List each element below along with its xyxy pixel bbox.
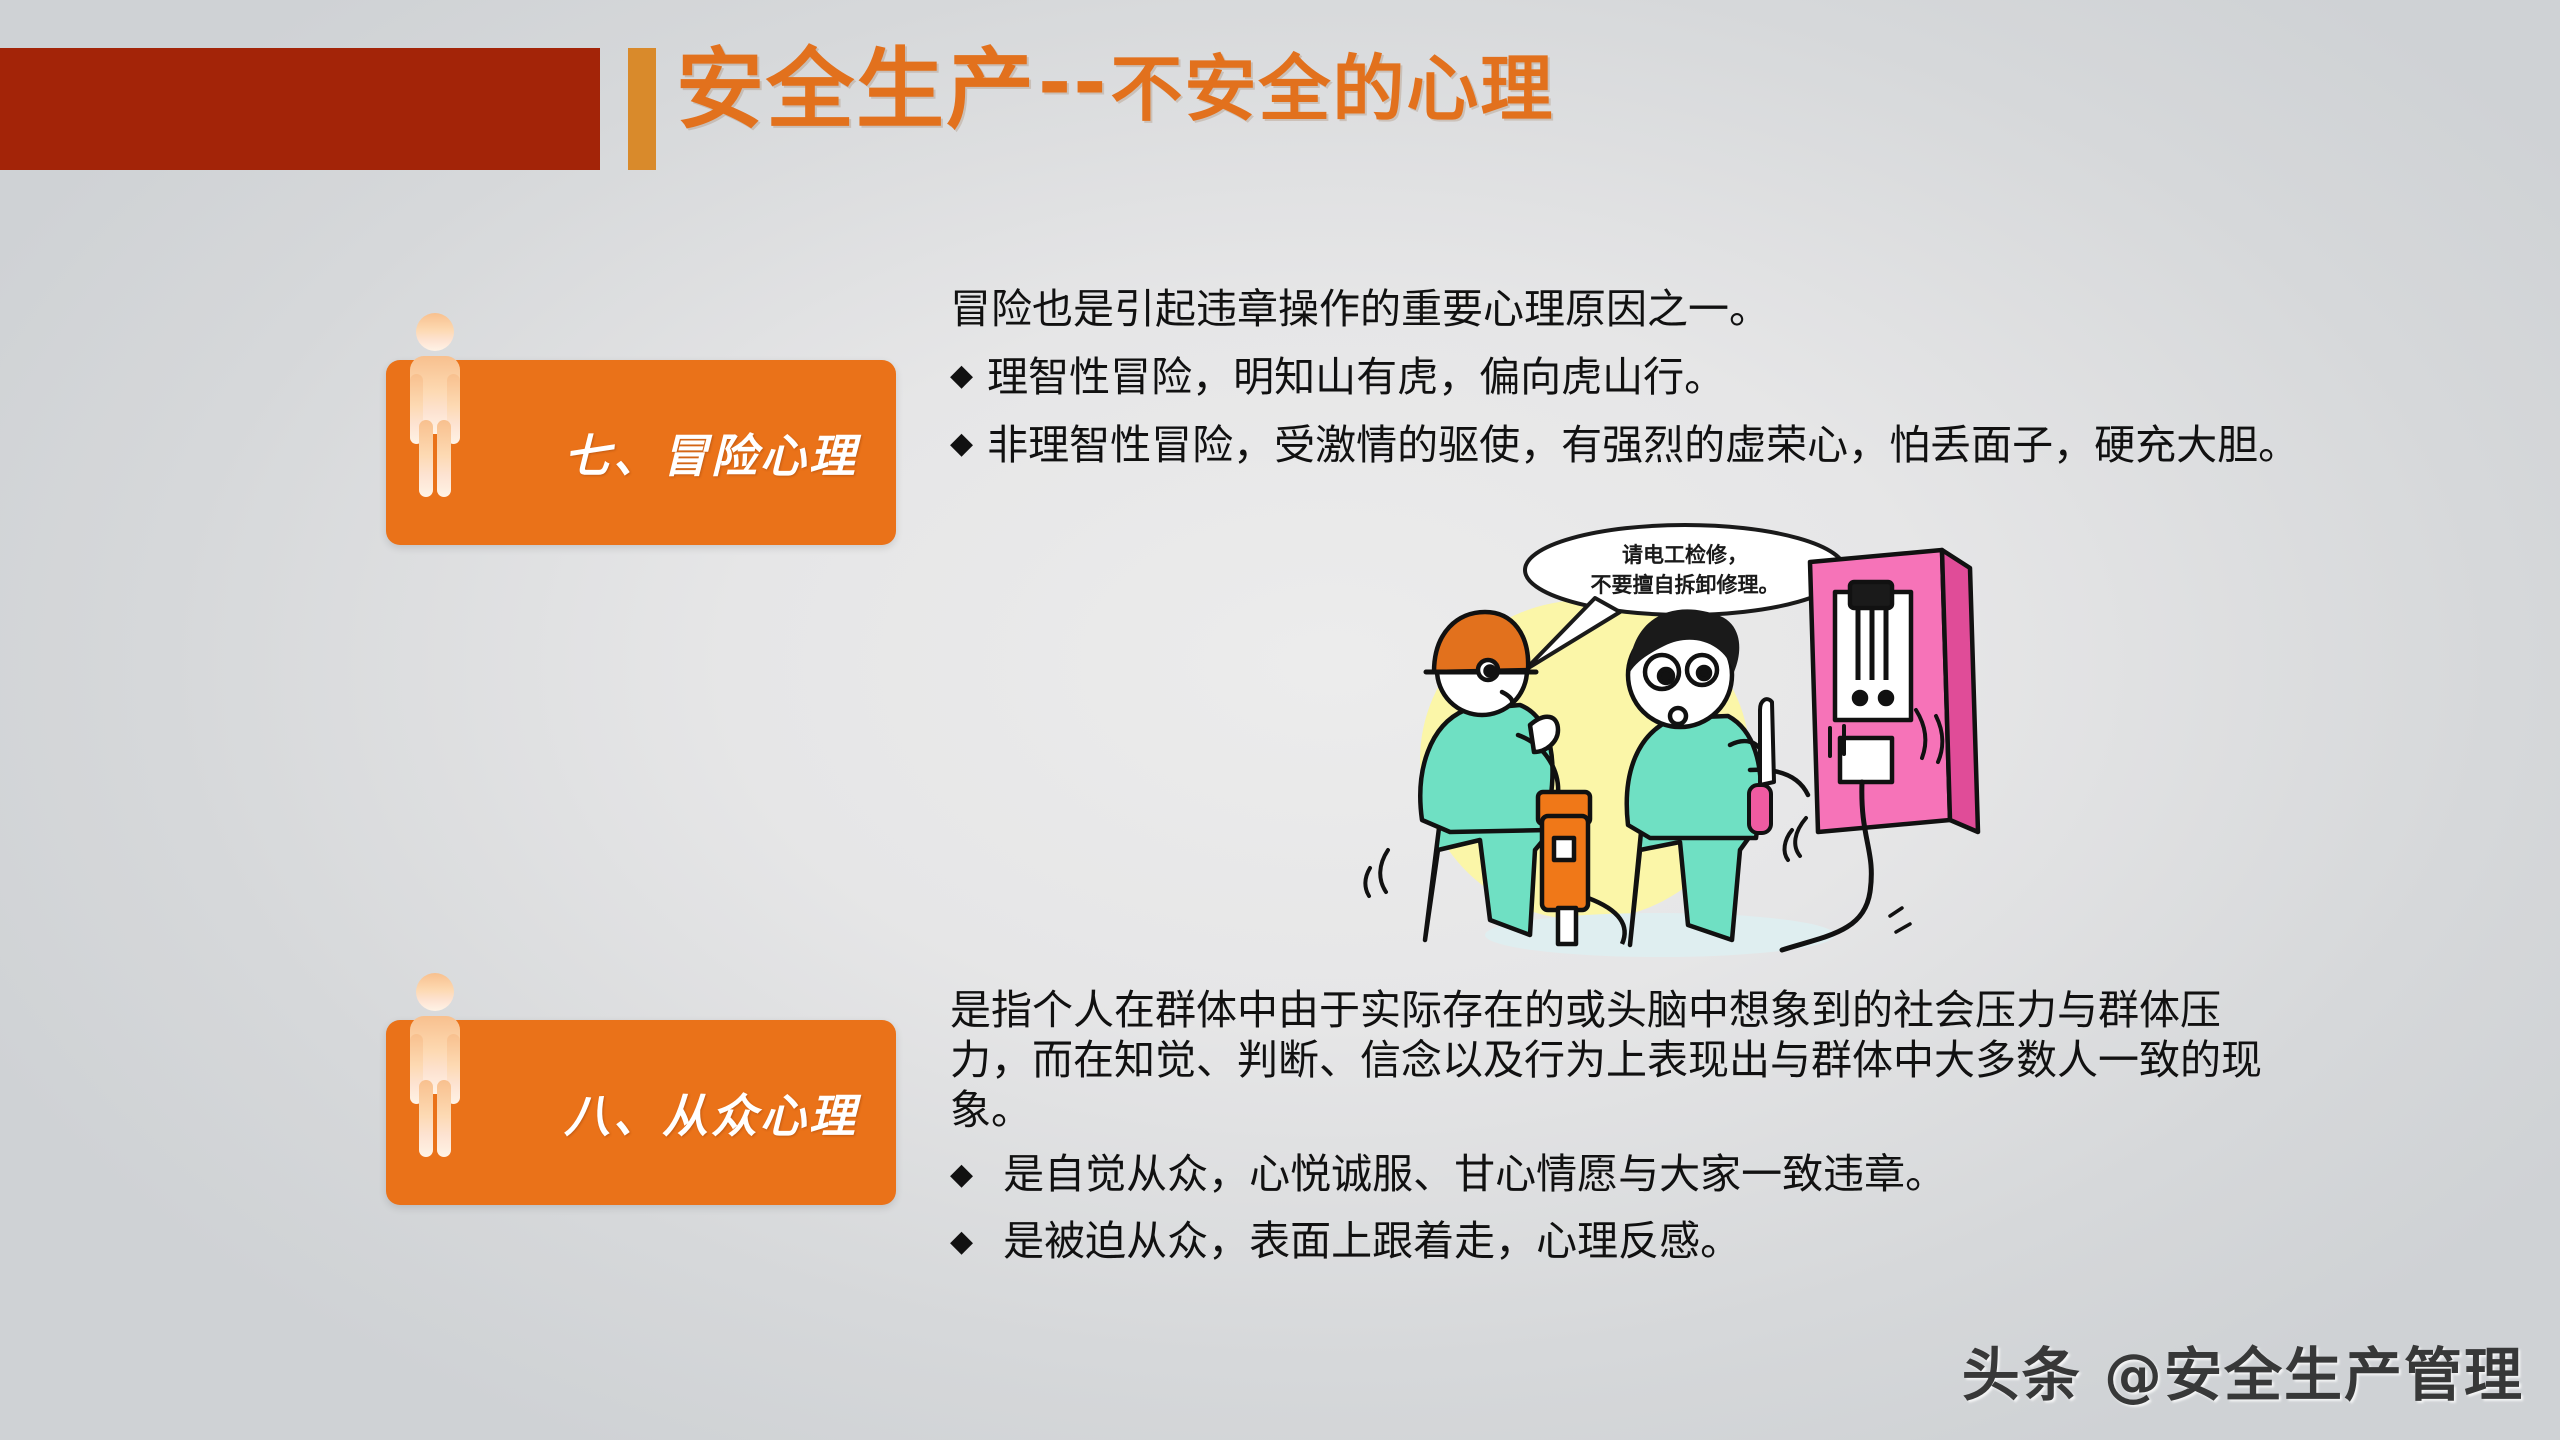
section-7-bullet-2-text: 非理智性冒险，受激情的驱使，有强烈的虚荣心，怕丢面子，硬充大胆。 [987, 418, 2310, 472]
diamond-bullet-icon: ◆ [950, 1216, 1003, 1269]
section-8-intro: 是指个人在群体中由于实际存在的或头脑中想象到的社会压力与群体压力，而在知觉、判断… [950, 985, 2300, 1135]
section-8-bullet-2-text: 是被迫从众，表面上跟着走，心理反感。 [1003, 1216, 2300, 1266]
diamond-bullet-icon: ◆ [950, 418, 987, 471]
section-8-bullet-1: ◆ 是自觉从众，心悦诚服、甘心情愿与大家一致违章。 [950, 1149, 2300, 1202]
speech-bubble-line2: 不要擅自拆卸修理。 [1591, 573, 1780, 597]
person-icon [404, 972, 466, 1157]
diamond-bullet-icon: ◆ [950, 1149, 1003, 1202]
header-accent-bar [0, 48, 600, 170]
diamond-bullet-icon: ◆ [950, 350, 987, 403]
page-title-dash: -- [1036, 36, 1110, 129]
slide-canvas: 安全生产--不安全的心理 七、冒险心理 冒险也是引起违章操作的重要心理原因之 [0, 0, 2560, 1440]
speech-bubble-line1: 请电工检修， [1622, 543, 1748, 567]
section-7-bullet-2: ◆ 非理智性冒险，受激情的驱使，有强烈的虚荣心，怕丢面子，硬充大胆。 [950, 418, 2310, 472]
electrical-safety-cartoon: 请电工检修， 不要擅自拆卸修理。 [1330, 520, 2030, 970]
watermark: 头条 @安全生产管理 [1962, 1328, 2524, 1412]
section-7-bullet-1-text: 理智性冒险，明知山有虎，偏向虎山行。 [987, 350, 2310, 404]
page-title: 安全生产--不安全的心理 [676, 24, 1554, 140]
page-title-sub: 不安全的心理 [1110, 30, 1554, 135]
section-8-body: 是指个人在群体中由于实际存在的或头脑中想象到的社会压力与群体压力，而在知觉、判断… [950, 985, 2300, 1268]
section-8-bullet-2: ◆ 是被迫从众，表面上跟着走，心理反感。 [950, 1216, 2300, 1269]
section-8-bullet-1-text: 是自觉从众，心悦诚服、甘心情愿与大家一致违章。 [1003, 1149, 2300, 1199]
header-accent-tick [628, 48, 656, 170]
page-title-main: 安全生产 [676, 19, 1036, 146]
section-7-intro: 冒险也是引起违章操作的重要心理原因之一。 [950, 282, 2310, 336]
section-badge-8-label: 八、从众心理 [564, 1080, 896, 1146]
section-badge-7-label: 七、冒险心理 [564, 420, 896, 486]
person-icon [404, 312, 466, 497]
section-7-bullet-1: ◆ 理智性冒险，明知山有虎，偏向虎山行。 [950, 350, 2310, 404]
section-7-body: 冒险也是引起违章操作的重要心理原因之一。 ◆ 理智性冒险，明知山有虎，偏向虎山行… [950, 282, 2310, 472]
